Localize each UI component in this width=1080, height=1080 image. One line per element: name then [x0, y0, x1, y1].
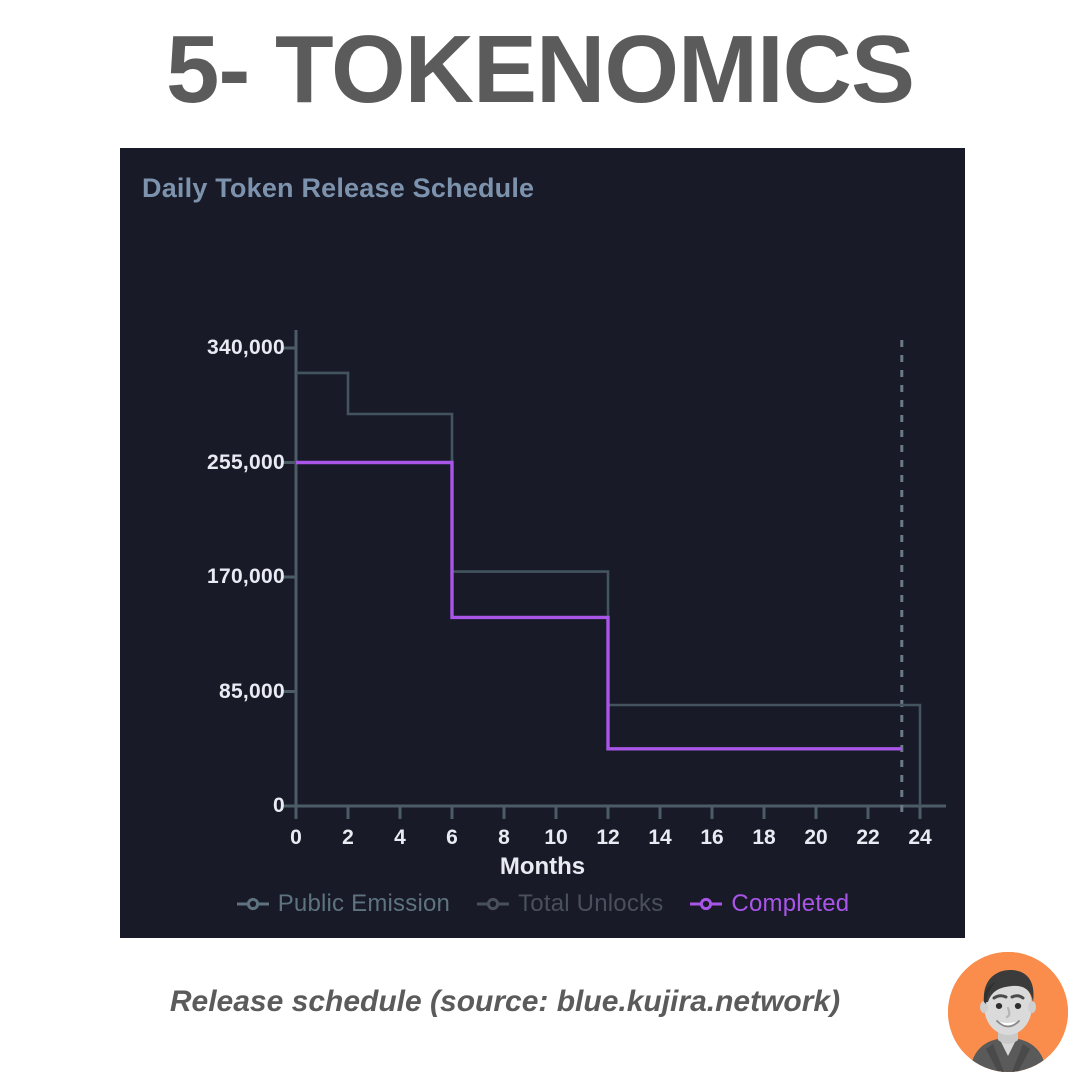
x-axis-tick-label: 0 — [290, 826, 302, 850]
y-axis-tick-label: 255,000 — [207, 451, 285, 475]
slide-root: 5- TOKENOMICS Daily Token Release Schedu… — [0, 0, 1080, 1080]
page-title: 5- TOKENOMICS — [0, 18, 1080, 122]
x-axis-tick-label: 24 — [908, 826, 931, 850]
legend-label: Total Unlocks — [518, 890, 663, 918]
legend-label: Public Emission — [278, 890, 450, 918]
x-axis-tick-label: 18 — [752, 826, 775, 850]
chart-plot — [120, 148, 965, 938]
legend-line-marker-icon — [689, 896, 723, 912]
legend-line-marker-icon — [236, 896, 270, 912]
y-axis-tick-label: 0 — [273, 794, 285, 818]
x-axis-tick-label: 2 — [342, 826, 354, 850]
x-axis-tick-label: 8 — [498, 826, 510, 850]
avatar — [948, 952, 1068, 1072]
legend-item[interactable]: Completed — [689, 890, 849, 918]
y-axis-tick-label: 170,000 — [207, 565, 285, 589]
chart-legend: Public EmissionTotal UnlocksCompleted — [120, 890, 965, 918]
x-axis-tick-label: 12 — [596, 826, 619, 850]
legend-item[interactable]: Public Emission — [236, 890, 450, 918]
x-axis-tick-label: 22 — [856, 826, 879, 850]
legend-line-marker-icon — [476, 896, 510, 912]
x-axis-tick-label: 4 — [394, 826, 406, 850]
x-axis-tick-label: 10 — [544, 826, 567, 850]
y-axis-tick-label: 340,000 — [207, 336, 285, 360]
x-axis-tick-label: 20 — [804, 826, 827, 850]
slide-caption: Release schedule (source: blue.kujira.ne… — [0, 985, 1010, 1019]
x-axis-label: Months — [120, 853, 965, 881]
chart-panel: Daily Token Release Schedule 085,000170,… — [120, 148, 965, 938]
x-axis-tick-label: 14 — [648, 826, 671, 850]
y-axis-tick-label: 85,000 — [219, 680, 285, 704]
legend-item[interactable]: Total Unlocks — [476, 890, 663, 918]
legend-label: Completed — [731, 890, 849, 918]
x-axis-tick-label: 6 — [446, 826, 458, 850]
x-axis-tick-label: 16 — [700, 826, 723, 850]
